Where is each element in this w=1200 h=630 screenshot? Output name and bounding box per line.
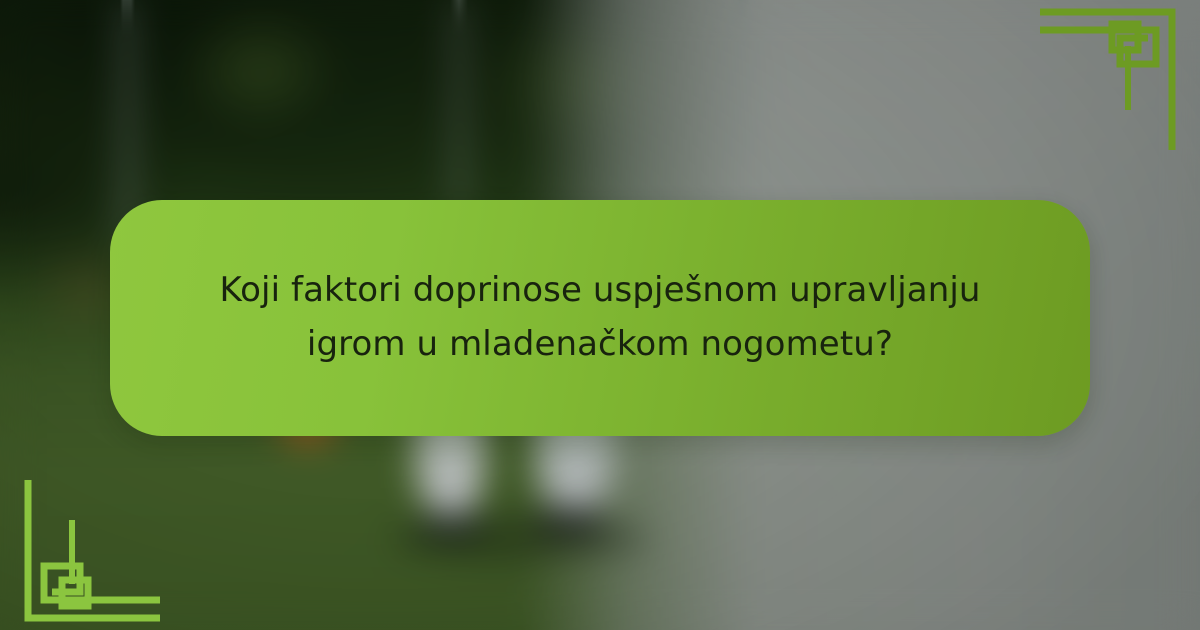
question-card: Koji faktori doprinose uspješnom upravlj… <box>110 200 1090 436</box>
question-text: Koji faktori doprinose uspješnom upravlj… <box>160 264 1040 371</box>
poster-canvas: Koji faktori doprinose uspješnom upravlj… <box>0 0 1200 630</box>
question-card-inner: Koji faktori doprinose uspješnom upravlj… <box>160 264 1040 371</box>
